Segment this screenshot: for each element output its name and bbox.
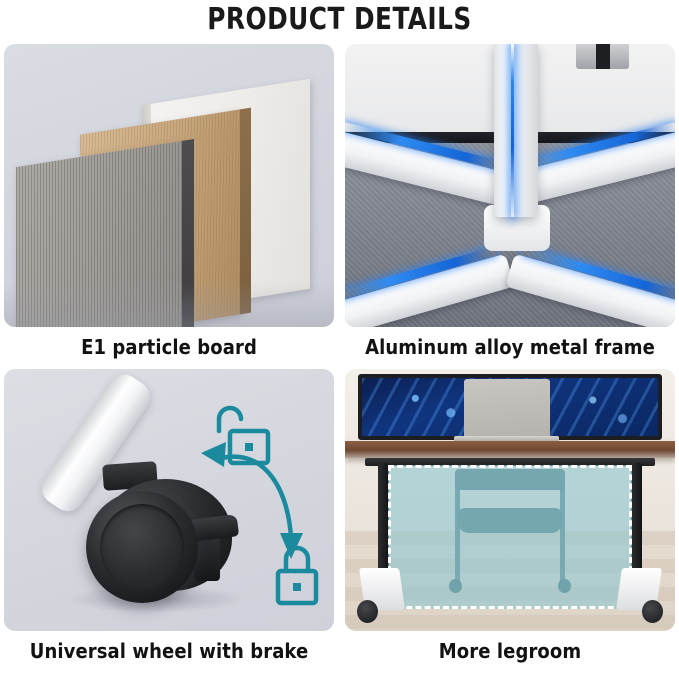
monitor-stand-foot: [576, 44, 629, 69]
desk-caster-left: [357, 600, 378, 624]
universal-wheel-photo: [4, 369, 334, 631]
board-floor-shadow: [4, 281, 334, 327]
details-grid: E1 particle board Aluminum alloy metal f…: [4, 44, 675, 669]
arrow-head-unlock: [201, 442, 226, 467]
frame-center-column: [494, 44, 539, 217]
lock-padlock-icon: [278, 548, 316, 603]
desk-tabletop: [345, 441, 675, 458]
metal-frame-photo: [345, 44, 675, 327]
product-details-page: PRODUCT DETAILS E1 particle board: [0, 0, 679, 673]
detail-card-metal-frame: Aluminum alloy metal frame: [345, 44, 675, 364]
detail-card-particle-board: E1 particle board: [4, 44, 334, 364]
particle-board-photo: [4, 44, 334, 327]
caption-particle-board: E1 particle board: [4, 335, 334, 359]
lock-indicator-graphics: [4, 369, 334, 631]
desk-leg-right: [631, 463, 642, 578]
laptop-screen: [464, 379, 550, 437]
page-title: PRODUCT DETAILS: [27, 2, 652, 37]
caption-legroom: More legroom: [345, 639, 675, 663]
caption-metal-frame: Aluminum alloy metal frame: [345, 335, 675, 359]
detail-card-universal-wheel: Universal wheel with brake: [4, 369, 334, 669]
detail-card-legroom: More legroom: [345, 369, 675, 669]
caption-universal-wheel: Universal wheel with brake: [4, 639, 334, 663]
legroom-photo: [345, 369, 675, 631]
legroom-highlight-region: [388, 465, 632, 609]
unlock-padlock-icon: [219, 408, 268, 463]
curved-double-arrow-icon: [218, 457, 291, 537]
